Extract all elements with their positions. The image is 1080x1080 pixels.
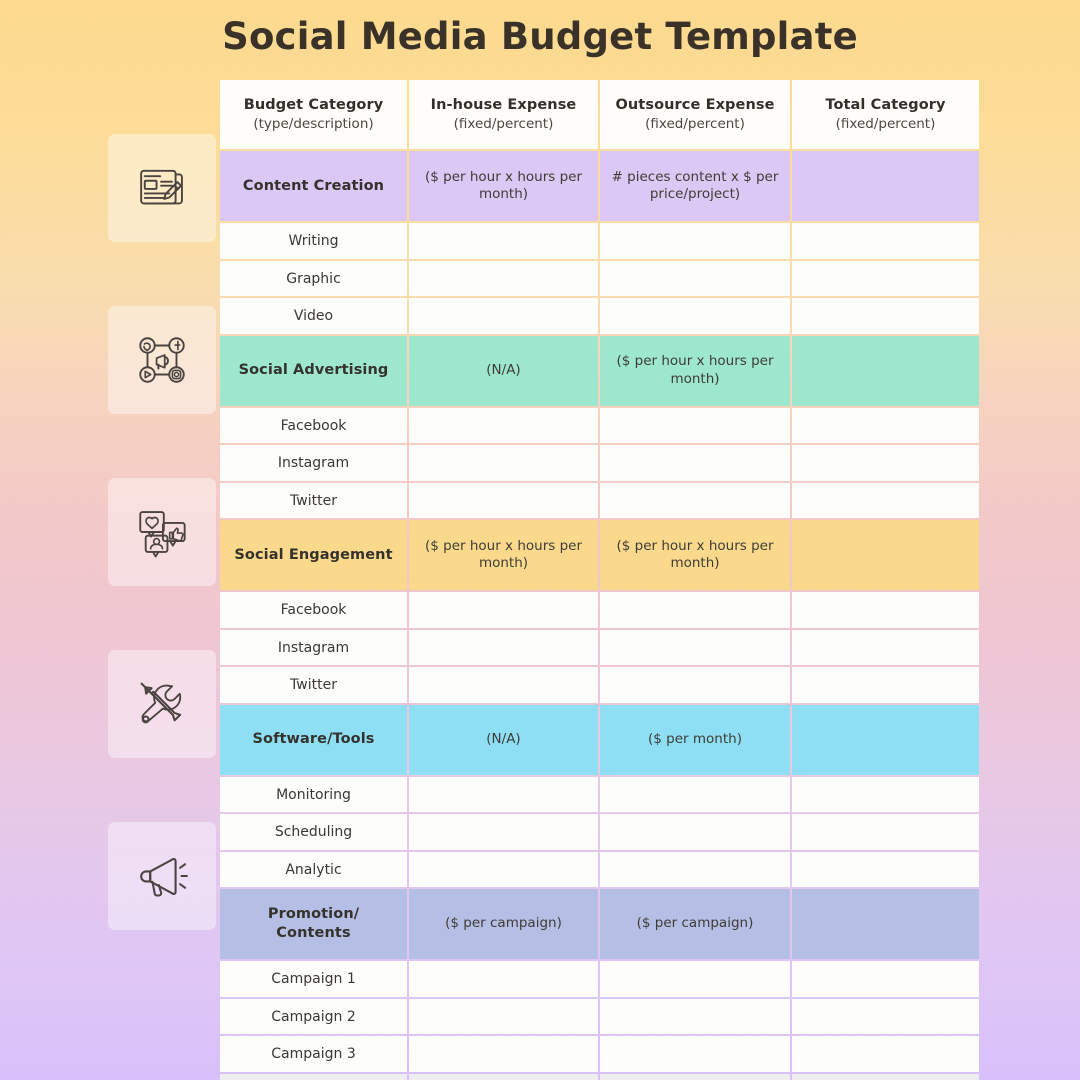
item-outsource-cell[interactable] [600,852,790,888]
item-label: Video [294,308,333,324]
icon-panel-social-engagement [108,478,216,586]
band-inhouse-cell: (N/A) [409,336,598,406]
band-total-cell [792,520,979,590]
item-total-cell[interactable] [792,961,979,997]
table-header-row: Budget Category (type/description) In-ho… [220,80,979,149]
social-network-icon [133,331,191,389]
band-outsource-cell: ($ per campaign) [600,889,790,959]
item-outsource-cell[interactable] [600,777,790,813]
item-inhouse-cell[interactable] [409,777,598,813]
item-inhouse-cell[interactable] [409,445,598,481]
band-title: Content Creation [226,177,401,196]
band-note: ($ per campaign) [415,915,592,932]
item-outsource-cell[interactable] [600,961,790,997]
band-title-line2: Contents [226,924,401,943]
total-row: Total $ $ $ [220,1074,979,1080]
band-note: # pieces content x $ per price/project) [606,169,784,204]
item-total-cell[interactable] [792,223,979,259]
item-outsource-cell[interactable] [600,592,790,628]
band-title-cell: Software/Tools [220,705,407,775]
header-cell-total-category: Total Category (fixed/percent) [792,80,979,149]
band-inhouse-cell: (N/A) [409,705,598,775]
band-note: ($ per hour x hours per month) [415,169,592,204]
band-title-line1: Promotion/ [226,905,401,924]
item-inhouse-cell[interactable] [409,630,598,666]
band-title-cell: Promotion/ Contents [220,889,407,959]
item-outsource-cell[interactable] [600,667,790,703]
megaphone-icon [133,847,191,905]
item-label-cell: Campaign 2 [220,999,407,1035]
band-title-cell: Content Creation [220,151,407,221]
item-total-cell[interactable] [792,630,979,666]
table-row[interactable]: Instagram [220,445,979,481]
band-row-social-engagement: Social Engagement ($ per hour x hours pe… [220,520,979,590]
item-outsource-cell[interactable] [600,999,790,1035]
icon-panel-social-advertising [108,306,216,414]
item-total-cell[interactable] [792,777,979,813]
item-label-cell: Instagram [220,630,407,666]
item-label-cell: Monitoring [220,777,407,813]
band-title: Social Advertising [226,361,401,380]
item-label-cell: Facebook [220,408,407,444]
band-note: ($ per hour x hours per month) [606,538,784,573]
table-row[interactable]: Twitter [220,483,979,519]
header-cell-inhouse-expense: In-house Expense (fixed/percent) [409,80,598,149]
icon-panel-promotion-contents [108,822,216,930]
item-label-cell: Campaign 1 [220,961,407,997]
table-row[interactable]: Campaign 3 [220,1036,979,1072]
item-outsource-cell[interactable] [600,223,790,259]
item-total-cell[interactable] [792,667,979,703]
item-outsource-cell[interactable] [600,445,790,481]
item-label: Monitoring [276,787,351,803]
total-inhouse-cell[interactable]: $ [409,1074,598,1080]
band-note: (N/A) [415,362,592,379]
table-row[interactable]: Instagram [220,630,979,666]
band-outsource-cell: ($ per hour x hours per month) [600,336,790,406]
item-total-cell[interactable] [792,445,979,481]
band-note: ($ per hour x hours per month) [415,538,592,573]
budget-table: Budget Category (type/description) In-ho… [218,78,981,1080]
table-row[interactable]: Scheduling [220,814,979,850]
item-total-cell[interactable] [792,261,979,297]
item-label-cell: Instagram [220,445,407,481]
item-inhouse-cell[interactable] [409,961,598,997]
item-total-cell[interactable] [792,852,979,888]
item-outsource-cell[interactable] [600,408,790,444]
item-total-cell[interactable] [792,999,979,1035]
item-label-cell: Graphic [220,261,407,297]
item-label: Twitter [290,493,337,509]
band-title: Software/Tools [226,730,401,749]
band-total-cell [792,705,979,775]
band-row-content-creation: Content Creation ($ per hour x hours per… [220,151,979,221]
item-inhouse-cell[interactable] [409,261,598,297]
item-inhouse-cell[interactable] [409,592,598,628]
item-label-cell: Twitter [220,667,407,703]
item-label-cell: Writing [220,223,407,259]
news-pencil-icon [133,159,191,217]
item-label-cell: Campaign 3 [220,1036,407,1072]
item-inhouse-cell[interactable] [409,298,598,334]
table-row[interactable]: Facebook [220,592,979,628]
item-total-cell[interactable] [792,814,979,850]
item-inhouse-cell[interactable] [409,852,598,888]
item-outsource-cell[interactable] [600,298,790,334]
header-main: In-house Expense [415,96,592,115]
band-total-cell [792,151,979,221]
item-inhouse-cell[interactable] [409,999,598,1035]
table-row[interactable]: Campaign 1 [220,961,979,997]
item-label: Analytic [285,862,341,878]
item-label: Instagram [278,640,349,656]
band-title-cell: Social Engagement [220,520,407,590]
item-label-cell: Analytic [220,852,407,888]
item-label-cell: Twitter [220,483,407,519]
band-total-cell [792,889,979,959]
total-label-cell: Total [220,1074,407,1080]
item-total-cell[interactable] [792,408,979,444]
band-title-cell: Social Advertising [220,336,407,406]
header-main: Total Category [798,96,973,115]
item-label-cell: Scheduling [220,814,407,850]
item-outsource-cell[interactable] [600,1036,790,1072]
item-inhouse-cell[interactable] [409,408,598,444]
item-outsource-cell[interactable] [600,814,790,850]
table-row[interactable]: Monitoring [220,777,979,813]
item-outsource-cell[interactable] [600,483,790,519]
header-main: Budget Category [226,96,401,115]
item-inhouse-cell[interactable] [409,814,598,850]
band-note: (N/A) [415,731,592,748]
item-outsource-cell[interactable] [600,630,790,666]
band-inhouse-cell: ($ per campaign) [409,889,598,959]
table-row[interactable]: Writing [220,223,979,259]
page-title: Social Media Budget Template [222,15,858,58]
item-inhouse-cell[interactable] [409,483,598,519]
band-note: ($ per hour x hours per month) [606,353,784,388]
item-label: Campaign 3 [271,1046,355,1062]
item-label: Instagram [278,455,349,471]
item-total-cell[interactable] [792,483,979,519]
header-sub: (type/description) [226,116,401,133]
band-total-cell [792,336,979,406]
item-inhouse-cell[interactable] [409,667,598,703]
engagement-bubbles-icon [133,503,191,561]
band-outsource-cell: ($ per hour x hours per month) [600,520,790,590]
title-bar: Social Media Budget Template [0,0,1080,72]
item-label-cell: Video [220,298,407,334]
band-inhouse-cell: ($ per hour x hours per month) [409,520,598,590]
item-label: Twitter [290,677,337,693]
icon-panel-content-creation [108,134,216,242]
band-note: ($ per campaign) [606,915,784,932]
band-note: ($ per month) [606,731,784,748]
item-total-cell[interactable] [792,1036,979,1072]
item-outsource-cell[interactable] [600,261,790,297]
band-row-social-advertising: Social Advertising (N/A) ($ per hour x h… [220,336,979,406]
table-row[interactable]: Facebook [220,408,979,444]
item-inhouse-cell[interactable] [409,223,598,259]
table-row[interactable]: Analytic [220,852,979,888]
band-title: Social Engagement [226,546,401,565]
total-category-cell[interactable]: $ [792,1074,979,1080]
table-row[interactable]: Video [220,298,979,334]
header-cell-budget-category: Budget Category (type/description) [220,80,407,149]
header-sub: (fixed/percent) [415,116,592,133]
band-outsource-cell: # pieces content x $ per price/project) [600,151,790,221]
band-inhouse-cell: ($ per hour x hours per month) [409,151,598,221]
item-label-cell: Facebook [220,592,407,628]
item-total-cell[interactable] [792,298,979,334]
header-main: Outsource Expense [606,96,784,115]
wrench-screwdriver-icon [133,675,191,733]
table-row[interactable]: Campaign 2 [220,999,979,1035]
item-total-cell[interactable] [792,592,979,628]
item-label: Campaign 1 [271,971,355,987]
header-cell-outsource-expense: Outsource Expense (fixed/percent) [600,80,790,149]
item-label: Scheduling [275,824,352,840]
header-sub: (fixed/percent) [798,116,973,133]
item-label: Writing [289,233,339,249]
band-row-software-tools: Software/Tools (N/A) ($ per month) [220,705,979,775]
header-sub: (fixed/percent) [606,116,784,133]
item-label: Facebook [281,418,347,434]
item-label: Graphic [286,271,341,287]
table-row[interactable]: Twitter [220,667,979,703]
band-row-promotion-contents: Promotion/ Contents ($ per campaign) ($ … [220,889,979,959]
icon-panel-software-tools [108,650,216,758]
table-row[interactable]: Graphic [220,261,979,297]
item-label: Facebook [281,602,347,618]
item-inhouse-cell[interactable] [409,1036,598,1072]
item-label: Campaign 2 [271,1009,355,1025]
band-outsource-cell: ($ per month) [600,705,790,775]
total-outsource-cell[interactable]: $ [600,1074,790,1080]
